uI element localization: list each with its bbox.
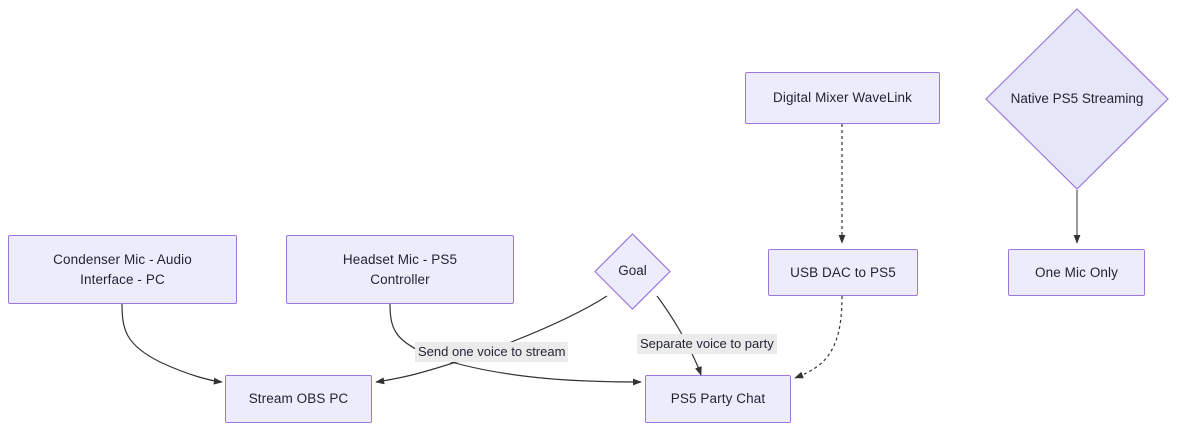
edge-label-separate-voice: Separate voice to party	[637, 334, 777, 354]
node-headset-mic-label: Headset Mic - PS5 Controller	[335, 250, 465, 289]
edge-usbdac-to-party	[795, 296, 842, 378]
node-goal-label: Goal	[618, 262, 647, 281]
node-goal[interactable]: Goal	[594, 233, 671, 310]
node-stream-obs-pc-label: Stream OBS PC	[241, 389, 357, 409]
node-native-ps5-streaming-label: Native PS5 Streaming	[1011, 90, 1144, 109]
node-one-mic-only-label: One Mic Only	[1027, 263, 1126, 283]
edge-goal-to-obs	[376, 296, 607, 382]
node-one-mic-only[interactable]: One Mic Only	[1008, 249, 1145, 296]
node-ps5-party-chat[interactable]: PS5 Party Chat	[645, 375, 791, 423]
edge-condenser-to-obs	[122, 304, 222, 382]
node-condenser-mic-label: Condenser Mic - Audio Interface - PC	[45, 250, 200, 289]
flowchart-canvas: Condenser Mic - Audio Interface - PC Hea…	[0, 0, 1184, 435]
node-digital-mixer[interactable]: Digital Mixer WaveLink	[745, 72, 940, 124]
node-native-ps5-streaming[interactable]: Native PS5 Streaming	[985, 8, 1169, 190]
edge-label-send-one-voice: Send one voice to stream	[415, 342, 568, 362]
node-ps5-party-chat-label: PS5 Party Chat	[663, 389, 773, 409]
node-condenser-mic[interactable]: Condenser Mic - Audio Interface - PC	[8, 235, 237, 304]
node-digital-mixer-label: Digital Mixer WaveLink	[765, 88, 920, 108]
node-usb-dac[interactable]: USB DAC to PS5	[768, 249, 918, 296]
node-headset-mic[interactable]: Headset Mic - PS5 Controller	[286, 235, 514, 304]
node-stream-obs-pc[interactable]: Stream OBS PC	[225, 375, 372, 423]
node-usb-dac-label: USB DAC to PS5	[782, 263, 904, 283]
